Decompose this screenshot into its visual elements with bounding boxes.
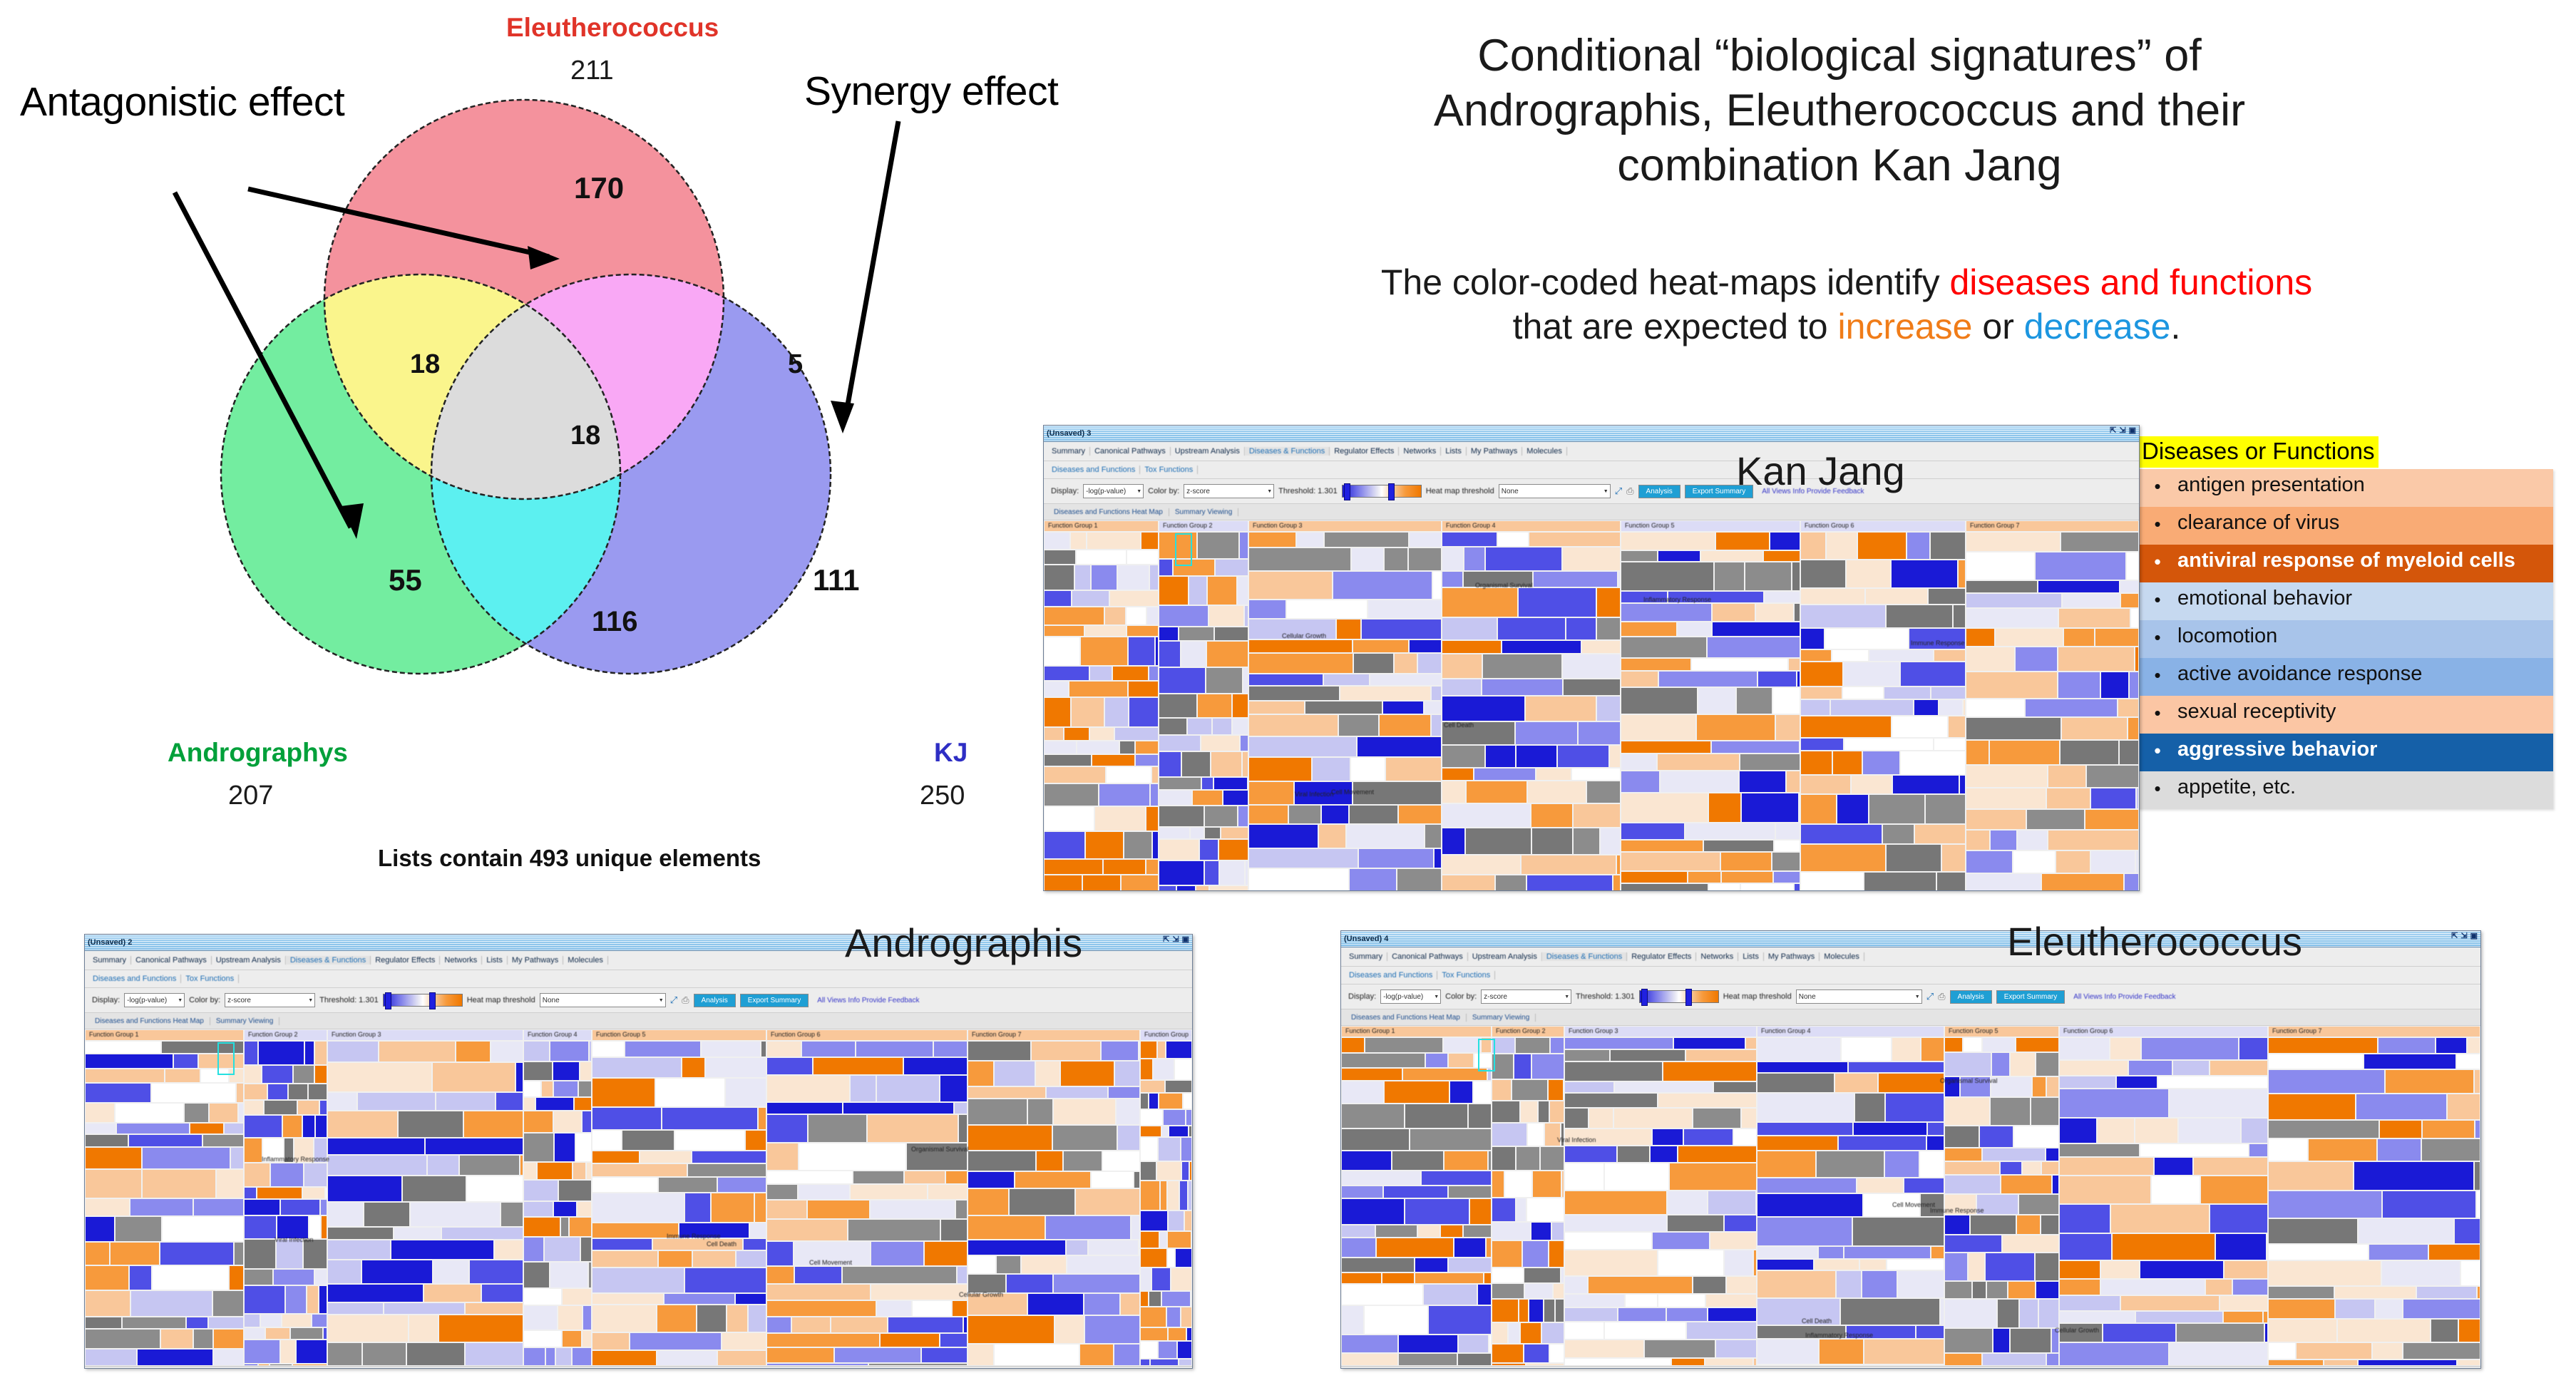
heatmap-cell[interactable] xyxy=(2135,850,2139,873)
heatmap-cell[interactable] xyxy=(1157,1041,1166,1059)
heatmap-cell[interactable] xyxy=(1069,681,1128,697)
heatmap-cell[interactable] xyxy=(1966,647,2015,672)
heatmap-cell[interactable] xyxy=(2178,1118,2241,1143)
heatmap-cell[interactable] xyxy=(327,1062,432,1092)
heatmap-cell[interactable] xyxy=(555,1347,572,1366)
heatmap-cell[interactable] xyxy=(1486,1238,1492,1258)
heatmap-cell[interactable] xyxy=(1757,1122,1853,1136)
menu-item[interactable]: Lists xyxy=(482,956,508,965)
heatmap-cell[interactable] xyxy=(2100,1279,2205,1295)
heatmap-cell[interactable] xyxy=(1186,1327,1192,1341)
heatmap-cell[interactable] xyxy=(212,1290,244,1317)
heatmap-cell[interactable] xyxy=(592,1130,622,1151)
heatmap-cell[interactable] xyxy=(582,1330,592,1347)
heatmap-cell[interactable] xyxy=(1991,1076,2032,1097)
heatmap-cell[interactable] xyxy=(766,1114,808,1143)
heatmap-cell[interactable] xyxy=(85,1134,128,1147)
heatmap-cell[interactable] xyxy=(1997,1299,2019,1328)
window-menu-row[interactable]: SummaryCanonical PathwaysUpstream Analys… xyxy=(1341,947,2480,967)
heatmap-cell[interactable] xyxy=(1117,1125,1140,1151)
heatmap-cell[interactable] xyxy=(327,1260,361,1284)
heatmap-cell[interactable] xyxy=(1006,1274,1053,1293)
heatmap-cell[interactable] xyxy=(481,1284,523,1302)
heatmap-cell[interactable] xyxy=(1564,1081,1614,1093)
heatmap-cell[interactable] xyxy=(1724,1215,1757,1232)
restore-icon[interactable]: ⇱ xyxy=(2451,932,2458,940)
heatmap-cell[interactable] xyxy=(2454,1218,2480,1244)
heatmap-cell[interactable] xyxy=(2059,1037,2110,1060)
heatmap-cell[interactable] xyxy=(2268,1037,2378,1054)
heatmap-cell[interactable] xyxy=(1156,1161,1181,1181)
heatmap-cell[interactable] xyxy=(558,1180,592,1201)
heatmap-cell[interactable] xyxy=(1341,1104,1405,1128)
menu-item[interactable]: Canonical Pathways xyxy=(131,956,212,965)
heatmap-canvas-kan-jang[interactable]: Function Group 1Function Group 2Function… xyxy=(1044,520,2139,891)
heatmap-cell[interactable] xyxy=(1819,1339,1864,1364)
heatmap-cell[interactable] xyxy=(1963,1037,1982,1052)
heatmap-cell[interactable] xyxy=(2379,1120,2422,1138)
heatmap-cell[interactable] xyxy=(856,1041,933,1057)
heatmap-cell[interactable] xyxy=(2356,1094,2447,1120)
heatmap-cell[interactable] xyxy=(2223,1311,2263,1323)
heatmap-cell[interactable] xyxy=(1930,532,1966,560)
heatmap-cell[interactable] xyxy=(1353,639,1409,653)
heatmap-cell[interactable] xyxy=(1163,1109,1186,1126)
heatmap-cell[interactable] xyxy=(244,1285,285,1314)
heatmap-cell[interactable] xyxy=(1424,701,1442,714)
heatmap-cell[interactable] xyxy=(553,1111,582,1133)
heatmap-cell[interactable] xyxy=(327,1092,357,1111)
heatmap-cell[interactable] xyxy=(904,1171,945,1184)
heatmap-cell[interactable] xyxy=(115,1216,162,1242)
heatmap-cell[interactable] xyxy=(1492,1222,1531,1240)
heatmap-cell[interactable] xyxy=(1557,745,1609,768)
heatmap-cell[interactable] xyxy=(1341,1305,1364,1335)
heatmap-cell[interactable] xyxy=(1457,1353,1492,1366)
heatmap-cell[interactable] xyxy=(1564,1276,1588,1294)
menu-item[interactable]: My Pathways xyxy=(508,956,563,965)
view-summary-tab[interactable]: Summary Viewing xyxy=(1169,508,1238,516)
window-submenu-row[interactable]: Diseases and FunctionsTox Functions xyxy=(1044,461,2139,479)
heatmap-cell[interactable] xyxy=(1857,532,1907,560)
heatmap-cell[interactable] xyxy=(1079,1344,1114,1366)
heatmap-cell[interactable] xyxy=(813,1057,903,1075)
heatmap-cell[interactable] xyxy=(1035,1061,1060,1086)
heatmap-cell[interactable] xyxy=(1114,1061,1140,1086)
heatmap-cell[interactable] xyxy=(238,1103,244,1123)
heatmap-cell[interactable] xyxy=(1564,1049,1610,1061)
heatmap-cell[interactable] xyxy=(592,1332,630,1350)
heatmap-cell[interactable] xyxy=(1338,714,1379,736)
heatmap-cell[interactable] xyxy=(921,1347,968,1363)
heatmap-cell[interactable] xyxy=(808,1114,867,1143)
heatmap-cell[interactable] xyxy=(1705,1358,1753,1366)
heatmap-cell[interactable] xyxy=(1442,855,1521,875)
heatmap-cell[interactable] xyxy=(577,1201,592,1217)
heatmap-cell[interactable] xyxy=(2141,1037,2239,1060)
heatmap-cell[interactable] xyxy=(1492,1283,1524,1299)
highlight-select[interactable]: None▼ xyxy=(1796,989,1922,1004)
heatmap-cell[interactable] xyxy=(2268,1342,2296,1359)
heatmap-cell[interactable] xyxy=(1953,605,1966,628)
heatmap-cell[interactable] xyxy=(327,1176,402,1202)
heatmap-cell[interactable] xyxy=(940,1219,968,1241)
heatmap-cell[interactable] xyxy=(1080,637,1128,666)
heatmap-cell[interactable] xyxy=(409,1315,438,1342)
view-heatmap-tab[interactable]: Diseases and Functions Heat Map xyxy=(1345,1014,1467,1022)
heatmap-cell[interactable] xyxy=(1986,1281,2008,1299)
heatmap-cell[interactable] xyxy=(1067,1255,1140,1274)
heatmap-cell[interactable] xyxy=(1248,653,1353,674)
heatmap-cell[interactable] xyxy=(1364,1305,1428,1335)
heatmap-cell[interactable] xyxy=(2296,1342,2372,1359)
colorby-select[interactable]: z-score▼ xyxy=(1184,484,1274,498)
heatmap-cell[interactable] xyxy=(1794,603,1800,622)
heatmap-cell[interactable] xyxy=(1862,751,1900,775)
heatmap-cell[interactable] xyxy=(1921,1037,1944,1061)
heatmap-cell[interactable] xyxy=(1657,754,1740,771)
heatmap-cell[interactable] xyxy=(1442,571,1463,587)
heatmap-cell[interactable] xyxy=(2154,1157,2193,1176)
heatmap-cell[interactable] xyxy=(1044,666,1089,681)
heatmap-cell[interactable] xyxy=(523,1180,558,1201)
heatmap-cell[interactable] xyxy=(1920,1193,1944,1217)
heatmap-cell[interactable] xyxy=(2059,1279,2100,1295)
heatmap-cell[interactable] xyxy=(85,1242,110,1265)
heatmap-cell[interactable] xyxy=(1140,1093,1149,1109)
heatmap-cell[interactable] xyxy=(876,1075,940,1102)
heatmap-cell[interactable] xyxy=(244,1199,280,1215)
heatmap-cell[interactable] xyxy=(1531,828,1573,855)
heatmap-cell[interactable] xyxy=(1745,1037,1757,1049)
heatmap-cell[interactable] xyxy=(1667,1215,1724,1232)
heatmap-cell[interactable] xyxy=(262,1138,284,1163)
heatmap-cell[interactable] xyxy=(523,1162,537,1180)
heatmap-cell[interactable] xyxy=(1126,607,1146,625)
heatmap-cell[interactable] xyxy=(85,1123,116,1134)
heatmap-cell[interactable] xyxy=(2431,1319,2458,1342)
heatmap-cell[interactable] xyxy=(1650,1146,1678,1163)
heatmap-cell[interactable] xyxy=(1442,828,1465,855)
heatmap-cell[interactable] xyxy=(1248,805,1288,824)
menu-item[interactable]: Networks xyxy=(1399,447,1441,456)
heatmap-cell[interactable] xyxy=(1150,783,1159,806)
window-toolbar[interactable]: Display: -log(p-value)▼ Color by: z-scor… xyxy=(1044,479,2139,504)
heatmap-cell[interactable] xyxy=(2475,1120,2480,1138)
heatmap-cell[interactable] xyxy=(1159,827,1190,839)
heatmap-cell[interactable] xyxy=(297,1100,319,1115)
heatmap-cell[interactable] xyxy=(1617,1146,1650,1163)
heatmap-cell[interactable] xyxy=(1775,823,1800,840)
heatmap-cell[interactable] xyxy=(280,1340,296,1364)
heatmap-cell[interactable] xyxy=(244,1314,260,1327)
heatmap-cell[interactable] xyxy=(2120,580,2139,593)
heatmap-cell[interactable] xyxy=(1318,824,1346,848)
heatmap-cell[interactable] xyxy=(1685,823,1775,840)
heatmap-cell[interactable] xyxy=(870,1200,955,1219)
heatmap-cell[interactable] xyxy=(745,1130,766,1151)
heatmap-cell[interactable] xyxy=(1341,1186,1383,1198)
heatmap-cell[interactable] xyxy=(766,1200,807,1219)
heatmap-cell[interactable] xyxy=(794,1241,871,1266)
heatmap-cell[interactable] xyxy=(1516,745,1557,768)
heatmap-cell[interactable] xyxy=(244,1269,273,1285)
heatmap-cell[interactable] xyxy=(1052,1125,1117,1151)
heatmap-cell[interactable] xyxy=(1206,641,1248,667)
heatmap-cell[interactable] xyxy=(1966,672,2058,699)
heatmap-cell[interactable] xyxy=(2035,1253,2059,1281)
heatmap-cell[interactable] xyxy=(1134,1171,1140,1188)
heatmap-cell[interactable] xyxy=(1158,1341,1177,1359)
heatmap-cell[interactable] xyxy=(244,1100,264,1115)
heatmap-cell[interactable] xyxy=(523,1133,554,1162)
heatmap-cell[interactable] xyxy=(494,1240,523,1260)
heatmap-cell[interactable] xyxy=(1966,788,2046,809)
heatmap-cell[interactable] xyxy=(1442,803,1531,828)
menu-item[interactable]: Upstream Analysis xyxy=(1468,952,1542,961)
heatmap-cell[interactable] xyxy=(2017,830,2048,850)
heatmap-cell[interactable] xyxy=(1159,777,1201,790)
heatmap-cell[interactable] xyxy=(1417,653,1442,674)
heatmap-cell[interactable] xyxy=(1525,696,1596,721)
highlight-select[interactable]: None▼ xyxy=(1499,484,1611,498)
heatmap-cell[interactable] xyxy=(432,1062,515,1092)
heatmap-cell[interactable] xyxy=(284,1138,294,1163)
menu-item[interactable]: Canonical Pathways xyxy=(1387,952,1468,961)
heatmap-cell[interactable] xyxy=(657,1350,717,1366)
heatmap-cell[interactable] xyxy=(1721,871,1773,883)
heatmap-cell[interactable] xyxy=(2232,1279,2268,1295)
heatmap-cell[interactable] xyxy=(544,1237,580,1262)
heatmap-cell[interactable] xyxy=(85,1083,151,1103)
heatmap-cell[interactable] xyxy=(562,1330,582,1347)
heatmap-cell[interactable] xyxy=(1757,1298,1840,1325)
heatmap-cell[interactable] xyxy=(1800,588,1865,605)
heatmap-cell[interactable] xyxy=(496,1092,523,1111)
heatmap-cell[interactable] xyxy=(1492,1123,1527,1146)
heatmap-cell[interactable] xyxy=(1153,1059,1174,1080)
heatmap-cell[interactable] xyxy=(1959,775,1966,794)
heatmap-cell[interactable] xyxy=(1176,885,1196,891)
heatmap-cell[interactable] xyxy=(2239,1037,2268,1060)
heatmap-cell[interactable] xyxy=(1859,1259,1887,1270)
heatmap-cell[interactable] xyxy=(151,1083,236,1103)
heatmap-cell[interactable] xyxy=(1189,1161,1192,1181)
heatmap-cell[interactable] xyxy=(1109,590,1159,607)
heatmap-cell[interactable] xyxy=(1740,883,1794,891)
heatmap-cell[interactable] xyxy=(523,1237,544,1262)
heatmap-cell[interactable] xyxy=(1410,1128,1492,1151)
heatmap-cell[interactable] xyxy=(1204,806,1238,827)
heatmap-cell[interactable] xyxy=(1892,775,1959,794)
heatmap-cell[interactable] xyxy=(717,1350,766,1366)
menu-item[interactable]: Regulator Effects xyxy=(1330,447,1399,456)
heatmap-cell[interactable] xyxy=(1082,875,1121,891)
heatmap-cell[interactable] xyxy=(2136,788,2139,809)
heatmap-cell[interactable] xyxy=(1857,1178,1904,1193)
heatmap-cell[interactable] xyxy=(85,1329,160,1349)
heatmap-cell[interactable] xyxy=(290,1327,323,1340)
heatmap-cell[interactable] xyxy=(1383,1186,1448,1198)
heatmap-cell[interactable] xyxy=(1691,658,1788,671)
heatmap-cell[interactable] xyxy=(193,1329,213,1349)
heatmap-cell[interactable] xyxy=(1573,828,1600,855)
heatmap-cell[interactable] xyxy=(1423,1284,1477,1305)
heatmap-cell[interactable] xyxy=(1114,727,1159,741)
heatmap-canvas-eleutherococcus[interactable]: Function Group 1Function Group 2Function… xyxy=(1341,1026,2480,1366)
heatmap-cell[interactable] xyxy=(2058,608,2130,628)
menu-item[interactable]: My Pathways xyxy=(1764,952,1820,961)
heatmap-cell[interactable] xyxy=(758,1107,766,1130)
heatmap-cell[interactable] xyxy=(294,1138,314,1163)
heatmap-cell[interactable] xyxy=(1625,1294,1658,1307)
heatmap-cell[interactable] xyxy=(1421,1171,1492,1186)
heatmap-cell[interactable] xyxy=(766,1241,794,1266)
heatmap-cell[interactable] xyxy=(1167,1231,1191,1248)
heatmap-cell[interactable] xyxy=(1757,1178,1857,1193)
heatmap-cell[interactable] xyxy=(968,1215,1045,1240)
heatmap-cell[interactable] xyxy=(1830,699,1914,716)
heatmap-cell[interactable] xyxy=(267,1084,288,1100)
heatmap-cell[interactable] xyxy=(1044,550,1076,565)
heatmap-cell[interactable] xyxy=(236,1083,244,1103)
heatmap-cell[interactable] xyxy=(1914,824,1966,844)
heatmap-cell[interactable] xyxy=(1788,658,1800,671)
heatmap-cell[interactable] xyxy=(1757,1193,1863,1217)
heatmap-cell[interactable] xyxy=(655,1078,725,1107)
heatmap-cell[interactable] xyxy=(160,1242,234,1265)
heatmap-cell[interactable] xyxy=(1482,654,1562,679)
heatmap-cell[interactable] xyxy=(425,1138,523,1155)
view-heatmap-tab[interactable]: Diseases and Functions Heat Map xyxy=(89,1017,210,1025)
heatmap-cell[interactable] xyxy=(1204,860,1219,885)
heatmap-cell[interactable] xyxy=(1934,649,1966,662)
expand-icon[interactable]: ⤢ xyxy=(1926,991,1934,1002)
all-views-info-link[interactable]: All Views Info Provide Feedback xyxy=(813,997,919,1004)
heatmap-cell[interactable] xyxy=(1159,605,1209,627)
heatmap-cell[interactable] xyxy=(1321,805,1349,824)
heatmap-cell[interactable] xyxy=(1248,701,1305,714)
heatmap-cell[interactable] xyxy=(1610,1049,1685,1061)
heatmap-cell[interactable] xyxy=(1757,1325,1846,1339)
heatmap-cell[interactable] xyxy=(1044,681,1069,697)
heatmap-cell[interactable] xyxy=(1444,1151,1488,1171)
heatmap-cell[interactable] xyxy=(1531,1054,1564,1079)
heatmap-cell[interactable] xyxy=(130,1290,212,1317)
heatmap-cell[interactable] xyxy=(1116,1099,1140,1125)
heatmap-cell[interactable] xyxy=(834,1347,921,1363)
heatmap-cell[interactable] xyxy=(692,1250,736,1268)
heatmap-cell[interactable] xyxy=(1668,591,1764,603)
heatmap-cell[interactable] xyxy=(1089,727,1114,741)
heatmap-cell[interactable] xyxy=(1169,1126,1189,1137)
heatmap-cell[interactable] xyxy=(592,1350,657,1366)
heatmap-cell[interactable] xyxy=(1179,1359,1192,1366)
heatmap-cell[interactable] xyxy=(2124,873,2139,891)
heatmap-cell[interactable] xyxy=(1312,757,1350,781)
heatmap-cell[interactable] xyxy=(1350,757,1385,781)
heatmap-cell[interactable] xyxy=(625,1041,701,1057)
heatmap-cell[interactable] xyxy=(244,1187,257,1199)
heatmap-cell[interactable] xyxy=(1800,699,1830,716)
heatmap-cell[interactable] xyxy=(85,1103,115,1123)
heatmap-cell[interactable] xyxy=(2120,1295,2220,1311)
heatmap-cell[interactable] xyxy=(1392,1151,1444,1171)
menu-item[interactable]: Diseases & Functions xyxy=(1245,447,1330,456)
heatmap-cell[interactable] xyxy=(954,1102,968,1114)
heatmap-cell[interactable] xyxy=(1531,1222,1551,1240)
heatmap-cell[interactable] xyxy=(1341,1171,1421,1186)
heatmap-cell[interactable] xyxy=(1652,1128,1683,1146)
heatmap-cell[interactable] xyxy=(2157,1076,2268,1089)
heatmap-cell[interactable] xyxy=(1442,696,1525,721)
heatmap-cell[interactable] xyxy=(1127,625,1159,637)
heatmap-cell[interactable] xyxy=(1159,806,1204,827)
heatmap-cell[interactable] xyxy=(1146,859,1159,875)
heatmap-cell[interactable] xyxy=(1465,828,1531,855)
window-view-row[interactable]: Diseases and Functions Heat Map Summary … xyxy=(85,1013,1192,1029)
submenu-item[interactable]: Diseases and Functions xyxy=(1047,466,1140,474)
heatmap-cell[interactable] xyxy=(1621,603,1712,622)
heatmap-cell[interactable] xyxy=(573,1162,586,1180)
menu-item[interactable]: Networks xyxy=(440,956,482,965)
heatmap-cell[interactable] xyxy=(1046,1086,1108,1099)
window-submenu-row[interactable]: Diseases and FunctionsTox Functions xyxy=(1341,967,2480,984)
heatmap-cell[interactable] xyxy=(1944,1161,2000,1175)
heatmap-cell[interactable] xyxy=(1710,1232,1757,1250)
heatmap-cell[interactable] xyxy=(1621,658,1691,671)
heatmap-cell[interactable] xyxy=(1341,1258,1415,1273)
heatmap-cell[interactable] xyxy=(523,1081,541,1097)
heatmap-cell[interactable] xyxy=(674,1130,745,1151)
heatmap-cell[interactable] xyxy=(1473,1081,1492,1104)
heatmap-cell[interactable] xyxy=(968,1099,1027,1125)
heatmap-cell[interactable] xyxy=(2403,1342,2480,1359)
heatmap-cell[interactable] xyxy=(569,1217,592,1237)
heatmap-cell[interactable] xyxy=(1248,824,1318,848)
heatmap-cell[interactable] xyxy=(582,1111,592,1133)
heatmap-cell[interactable] xyxy=(402,1176,466,1202)
heatmap-cell[interactable] xyxy=(1844,738,1934,751)
heatmap-cell[interactable] xyxy=(1677,622,1712,637)
heatmap-cell[interactable] xyxy=(327,1302,384,1315)
heatmap-cell[interactable] xyxy=(1044,741,1077,754)
heatmap-cell[interactable] xyxy=(1863,1193,1920,1217)
heatmap-cell[interactable] xyxy=(1070,532,1087,550)
heatmap-cell[interactable] xyxy=(327,1041,379,1062)
heatmap-cell[interactable] xyxy=(1189,576,1207,605)
color-gradient-slider[interactable] xyxy=(1342,485,1422,498)
window-submenu-row[interactable]: Diseases and FunctionsTox Functions xyxy=(85,970,1192,988)
heatmap-cell[interactable] xyxy=(276,1239,303,1269)
heatmap-cell[interactable] xyxy=(357,1092,436,1111)
heatmap-cell[interactable] xyxy=(684,1193,711,1223)
heatmap-cell[interactable] xyxy=(406,1342,465,1366)
heatmap-cell[interactable] xyxy=(85,1054,173,1069)
heatmap-cell[interactable] xyxy=(152,1265,229,1290)
heatmap-cell[interactable] xyxy=(560,1217,569,1237)
heatmap-cell[interactable] xyxy=(2085,809,2139,830)
heatmap-cell[interactable] xyxy=(1739,771,1786,793)
heatmap-cell[interactable] xyxy=(1197,532,1239,559)
heatmap-cell[interactable] xyxy=(1886,605,1953,628)
minimize-icon[interactable]: ⇲ xyxy=(2460,932,2467,940)
heatmap-cell[interactable] xyxy=(1495,875,1526,891)
heatmap-cell[interactable] xyxy=(1763,550,1800,562)
heatmap-cell[interactable] xyxy=(1027,1099,1053,1125)
heatmap-cell[interactable] xyxy=(303,1239,327,1269)
heatmap-cell[interactable] xyxy=(1621,741,1711,754)
